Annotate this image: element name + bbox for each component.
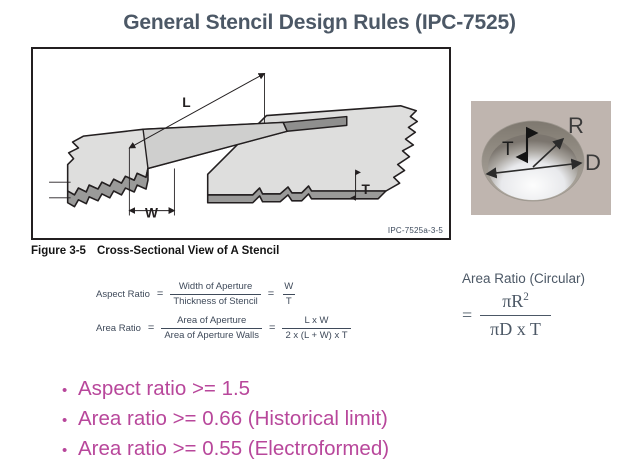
circular-aperture-illustration: T R D xyxy=(471,101,611,215)
aspect-ratio-label: Aspect Ratio xyxy=(96,289,150,300)
aspect-ratio-equals-2: = xyxy=(268,288,274,300)
area-ratio-numerator-words: Area of Aperture xyxy=(174,315,249,328)
aspect-ratio-formula: Aspect Ratio = Width of Aperture Thickne… xyxy=(96,281,351,308)
aperture-label-radius: R xyxy=(568,113,584,138)
circular-aperture-image: T R D xyxy=(471,101,611,215)
bullet-dot-icon: • xyxy=(62,443,78,458)
bullet-dot-icon: • xyxy=(62,383,78,398)
aspect-ratio-equals-1: = xyxy=(157,288,163,300)
list-item-label: Aspect ratio >= 1.5 xyxy=(78,374,250,404)
stencil-cross-section-diagram: L W T xyxy=(33,49,449,238)
aspect-ratio-fraction-words: Width of Aperture Thickness of Stencil xyxy=(170,281,260,308)
area-ratio-denominator-words: Area of Aperture Walls xyxy=(161,328,262,342)
aperture-label-thickness: T xyxy=(502,139,514,160)
list-item-label: Area ratio >= 0.55 (Electroformed) xyxy=(78,434,389,464)
figure-caption: Figure 3-5Cross-Sectional View of A Sten… xyxy=(31,245,279,257)
aperture-label-diameter: D xyxy=(585,150,601,175)
page-title: General Stencil Design Rules (IPC-7525) xyxy=(0,11,639,35)
area-ratio-equals-2: = xyxy=(269,322,275,334)
area-ratio-circular-formula: Area Ratio (Circular) = πR2 πD x T xyxy=(462,271,585,342)
ratio-formulas: Aspect Ratio = Width of Aperture Thickne… xyxy=(96,281,351,349)
area-ratio-circular-numerator-exponent: 2 xyxy=(523,291,529,303)
area-ratio-fraction-words: Area of Aperture Area of Aperture Walls xyxy=(161,315,262,342)
figure-caption-text: Cross-Sectional View of A Stencil xyxy=(97,245,279,257)
area-ratio-label: Area Ratio xyxy=(96,323,141,334)
list-item-label: Area ratio >= 0.66 (Historical limit) xyxy=(78,404,388,434)
design-rules-bullet-list: • Aspect ratio >= 1.5 • Area ratio >= 0.… xyxy=(62,374,389,464)
area-ratio-circular-equals: = xyxy=(462,305,472,326)
aspect-ratio-denominator-words: Thickness of Stencil xyxy=(170,294,260,308)
area-ratio-circular-numerator-base: πR xyxy=(502,291,523,311)
aspect-ratio-numerator-words: Width of Aperture xyxy=(176,281,255,294)
aspect-ratio-numerator-symbol: W xyxy=(281,281,296,294)
area-ratio-circular-fraction: πR2 πD x T xyxy=(480,290,551,342)
area-ratio-denominator-symbol: 2 x (L + W) x T xyxy=(282,328,350,342)
figure-caption-number: Figure 3-5 xyxy=(31,245,86,257)
figure-reference-code: IPC-7525a-3-5 xyxy=(388,226,443,235)
label-length: L xyxy=(182,95,190,110)
area-ratio-fraction-symbols: L x W 2 x (L + W) x T xyxy=(282,315,350,342)
bullet-dot-icon: • xyxy=(62,413,78,428)
area-ratio-circular-denominator: πD x T xyxy=(480,315,551,341)
area-ratio-circular-expression: = πR2 πD x T xyxy=(462,290,585,342)
label-thickness: T xyxy=(361,182,370,197)
area-ratio-circular-title: Area Ratio (Circular) xyxy=(462,271,585,286)
list-item: • Aspect ratio >= 1.5 xyxy=(62,374,389,404)
area-ratio-equals-1: = xyxy=(148,322,154,334)
area-ratio-numerator-symbol: L x W xyxy=(302,315,332,328)
aspect-ratio-fraction-symbols: W T xyxy=(281,281,296,308)
aspect-ratio-denominator-symbol: T xyxy=(283,294,295,308)
area-ratio-circular-numerator: πR2 xyxy=(492,290,539,315)
list-item: • Area ratio >= 0.66 (Historical limit) xyxy=(62,404,389,434)
label-width: W xyxy=(145,205,158,220)
area-ratio-formula: Area Ratio = Area of Aperture Area of Ap… xyxy=(96,315,351,342)
list-item: • Area ratio >= 0.55 (Electroformed) xyxy=(62,434,389,464)
stencil-figure-box: L W T IPC-7525a-3-5 xyxy=(31,47,451,240)
